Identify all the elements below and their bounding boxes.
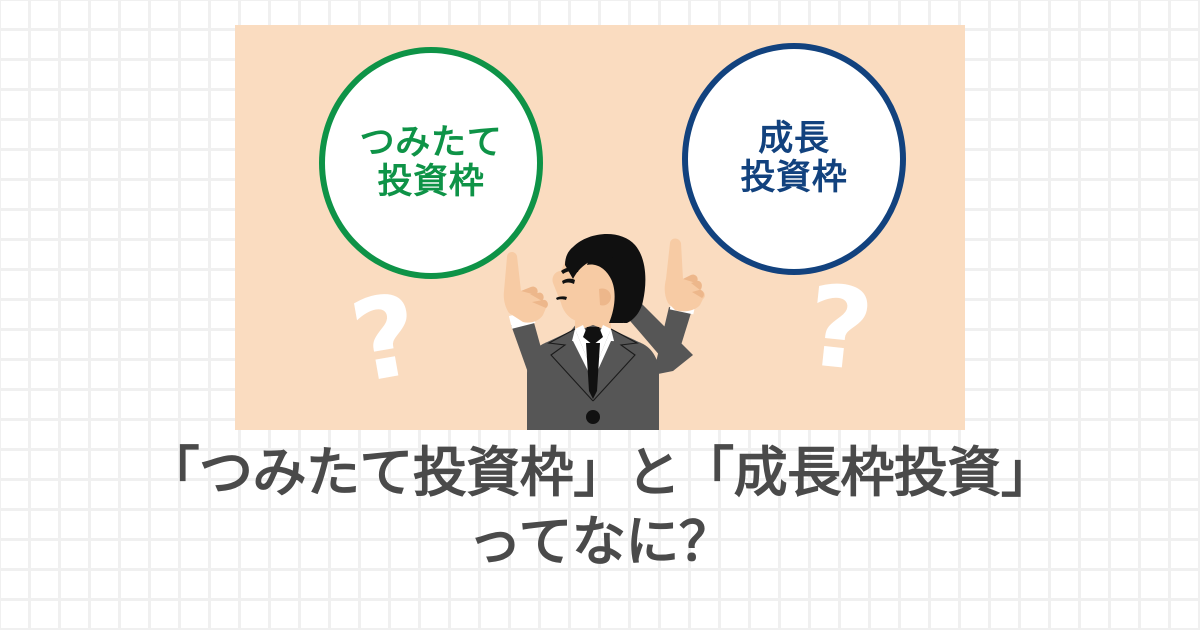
- bubble-tsumitate-line-1: つみたて: [360, 124, 503, 163]
- question-mark-icon-right: ?: [801, 270, 877, 388]
- bubble-seicho-line-2: 投資枠: [740, 159, 847, 198]
- page-title: 「つみたて投資枠」と「成長枠投資」 ってなに？: [0, 438, 1200, 576]
- page-title-line-2: ってなに？: [0, 507, 1200, 576]
- page-title-line-1: 「つみたて投資枠」と「成長枠投資」: [0, 438, 1200, 507]
- bubble-tsumitate-line-2: 投資枠: [377, 163, 484, 202]
- bubble-seicho-toshiwaku[interactable]: 成長 投資枠: [682, 43, 906, 275]
- bubble-seicho-line-1: 成長: [758, 120, 829, 159]
- question-mark-icon-left: ?: [344, 278, 427, 400]
- illustration-panel: ? ?: [235, 25, 965, 430]
- bubble-tsumitate-toshiwaku[interactable]: つみたて 投資枠: [319, 47, 543, 279]
